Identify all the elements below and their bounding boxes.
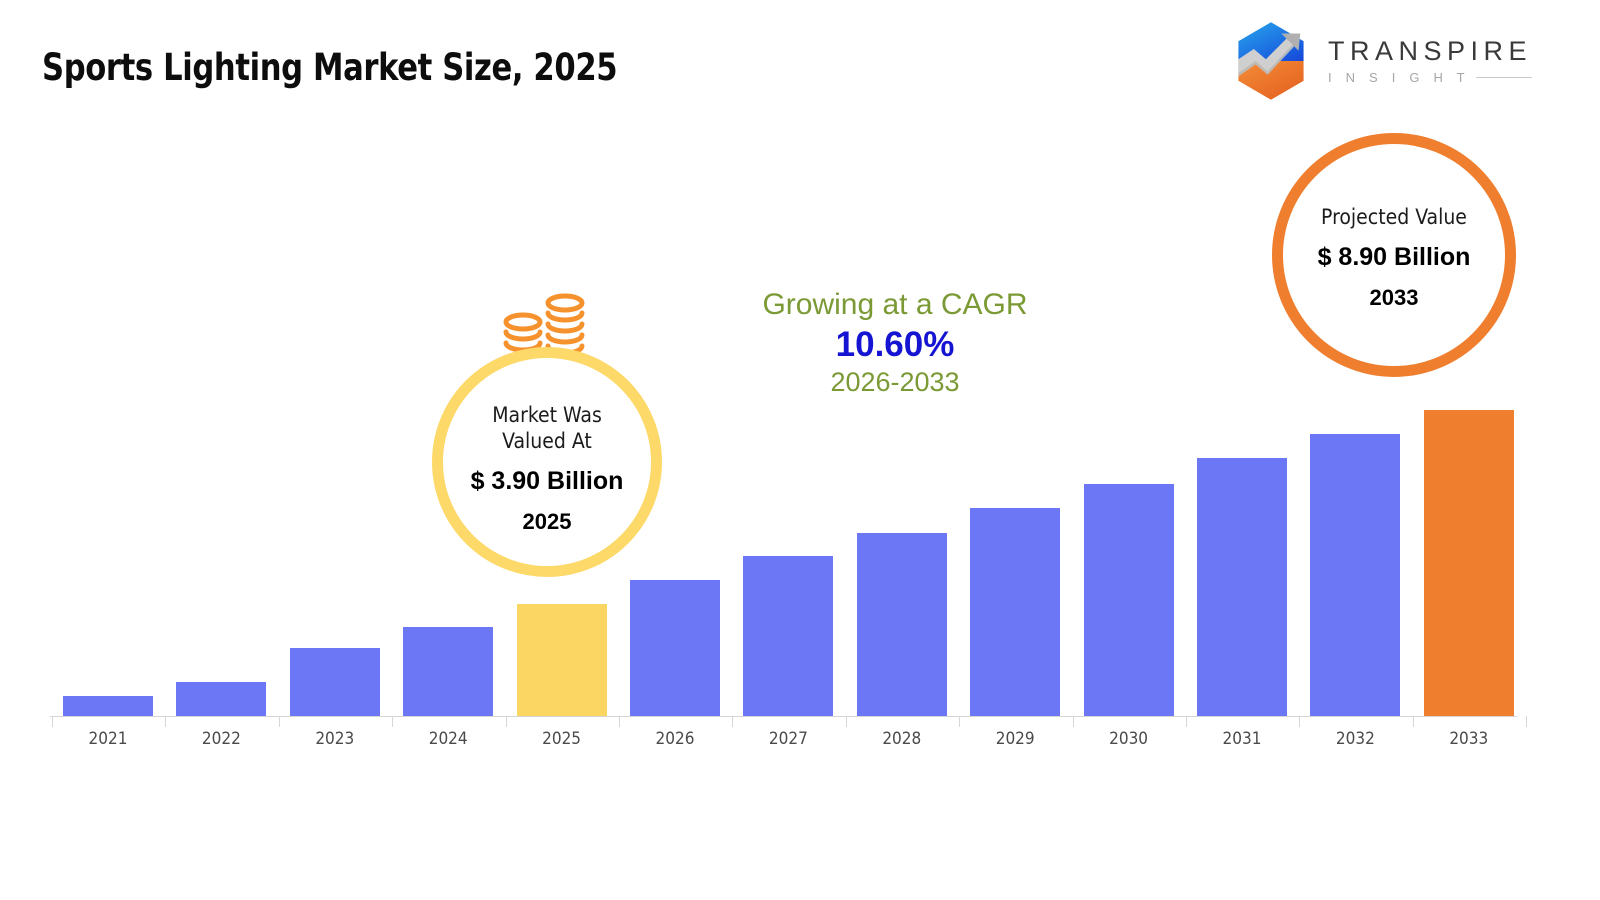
bar-2022	[176, 682, 266, 716]
x-axis-line	[50, 716, 1517, 717]
callout-current-label: Market Was Valued At	[492, 403, 602, 454]
bar-2028	[857, 533, 947, 716]
callout-projected-label: Projected Value	[1321, 205, 1467, 231]
x-axis-label-2033: 2033	[1409, 729, 1529, 749]
callout-current-value: Market Was Valued At $ 3.90 Billion 2025	[432, 347, 662, 577]
bar-2025	[517, 604, 607, 716]
callout-projected-label-line1: Projected Value	[1321, 205, 1467, 229]
x-axis-tick-2029	[959, 716, 960, 727]
x-axis-label-2024: 2024	[388, 729, 508, 749]
cagr-callout: Growing at a CAGR 10.60% 2026-2033	[745, 288, 1045, 399]
x-axis-label-2028: 2028	[842, 729, 962, 749]
callout-current-value-text: $ 3.90 Billion	[471, 467, 624, 496]
x-axis-tick-2026	[619, 716, 620, 727]
callout-current-year: 2025	[523, 509, 572, 535]
bar-2027	[743, 556, 833, 716]
bar-2023	[290, 648, 380, 716]
x-axis-tick-2021	[52, 716, 53, 727]
cagr-caption: Growing at a CAGR	[745, 288, 1045, 323]
bar-2031	[1197, 458, 1287, 716]
bar-2026	[630, 580, 720, 716]
x-axis-tick-2023	[279, 716, 280, 727]
x-axis-label-2021: 2021	[48, 729, 168, 749]
bar-2024	[403, 627, 493, 716]
bar-2030	[1084, 484, 1174, 716]
callout-projected-year: 2033	[1370, 285, 1419, 311]
x-axis-label-2026: 2026	[615, 729, 735, 749]
bar-2021	[63, 696, 153, 716]
x-axis-tick-2033	[1413, 716, 1414, 727]
cagr-period: 2026-2033	[745, 367, 1045, 398]
callout-current-label-line2: Valued At	[502, 429, 592, 453]
cagr-value: 10.60%	[745, 325, 1045, 366]
x-axis-label-2030: 2030	[1069, 729, 1189, 749]
x-axis-tick-2030	[1073, 716, 1074, 727]
bar-2029	[970, 508, 1060, 716]
x-axis-label-2029: 2029	[955, 729, 1075, 749]
x-axis-tick-2031	[1186, 716, 1187, 727]
x-axis-label-2027: 2027	[728, 729, 848, 749]
x-axis-label-2031: 2031	[1182, 729, 1302, 749]
bar-2032	[1310, 434, 1400, 716]
x-axis-label-2025: 2025	[502, 729, 622, 749]
x-axis-tick-2024	[392, 716, 393, 727]
x-axis-label-2032: 2032	[1295, 729, 1415, 749]
x-axis-tick-2025	[506, 716, 507, 727]
callout-current-label-line1: Market Was	[492, 403, 602, 427]
x-axis-tick-2022	[165, 716, 166, 727]
x-axis-tick-2028	[846, 716, 847, 727]
x-axis-tick-2027	[732, 716, 733, 727]
bar-2033	[1424, 410, 1514, 716]
market-size-bar-chart: 2021202220232024202520262027202820292030…	[0, 0, 1600, 900]
callout-projected-value-text: $ 8.90 Billion	[1318, 243, 1471, 272]
x-axis-tick-2032	[1299, 716, 1300, 727]
callout-projected-value: Projected Value $ 8.90 Billion 2033	[1272, 133, 1516, 377]
x-axis-tick-end	[1526, 716, 1527, 727]
x-axis-label-2023: 2023	[275, 729, 395, 749]
x-axis-label-2022: 2022	[161, 729, 281, 749]
